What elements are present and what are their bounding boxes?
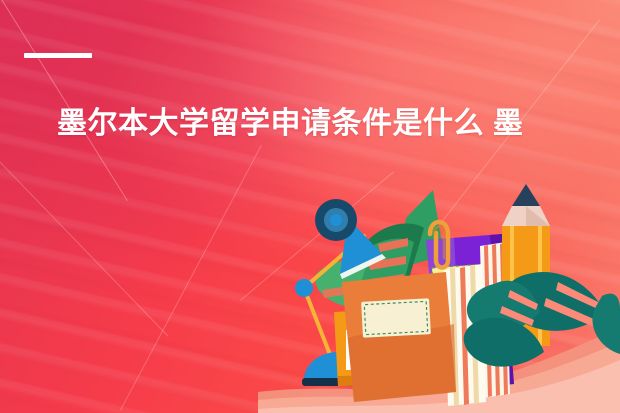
- pencil-tip: [512, 184, 540, 206]
- study-desk-illustration: [258, 178, 620, 413]
- page-title: 墨尔本大学留学申请条件是什么 墨: [57, 104, 523, 144]
- lamp-joint: [295, 279, 313, 297]
- title-divider: [24, 53, 92, 58]
- orange-notebook: [342, 272, 456, 402]
- lamp-head-bulb: [330, 214, 342, 226]
- orange-notebook-label: [361, 298, 431, 338]
- banner-root: 墨尔本大学留学申请条件是什么 墨: [0, 0, 620, 413]
